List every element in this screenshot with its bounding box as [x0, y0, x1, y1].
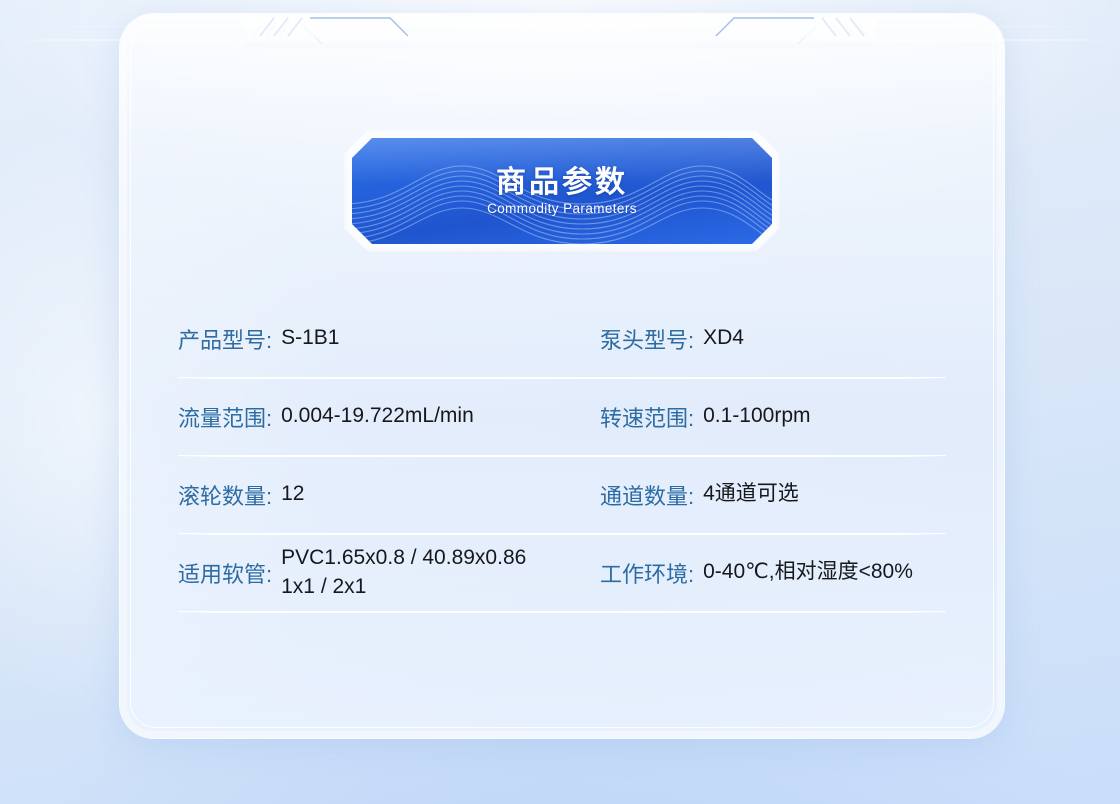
spec-cell-applicable-tubing: 适用软管: PVC1.65x0.8 / 40.89x0.86 1x1 / 2x1: [178, 544, 562, 601]
spec-cell-working-environment: 工作环境: 0-40℃,相对湿度<80%: [562, 557, 946, 589]
spec-cell-product-model: 产品型号: S-1B1: [178, 323, 562, 355]
spec-cell-channel-count: 通道数量: 4通道可选: [562, 479, 946, 511]
spec-label: 通道数量:: [600, 479, 694, 511]
spec-label: 泵头型号:: [600, 323, 694, 355]
spec-value: S-1B1: [281, 324, 339, 352]
spec-label: 产品型号:: [178, 323, 272, 355]
section-banner: 商品参数 Commodity Parameters: [352, 138, 772, 244]
card-corner-decoration-right: [654, 0, 884, 60]
card-corner-decoration-left: [240, 0, 470, 60]
spec-value: PVC1.65x0.8 / 40.89x0.86 1x1 / 2x1: [281, 544, 526, 601]
spec-value: 12: [281, 480, 304, 508]
spec-label: 流量范围:: [178, 401, 272, 433]
spec-value: 4通道可选: [703, 480, 799, 508]
table-row: 产品型号: S-1B1 泵头型号: XD4: [178, 300, 946, 378]
spec-value: XD4: [703, 324, 744, 352]
spec-cell-flow-range: 流量范围: 0.004-19.722mL/min: [178, 401, 562, 433]
spec-cell-roller-count: 滚轮数量: 12: [178, 479, 562, 511]
spec-value: 0.004-19.722mL/min: [281, 402, 474, 430]
spec-label: 适用软管:: [178, 557, 272, 589]
table-row: 流量范围: 0.004-19.722mL/min 转速范围: 0.1-100rp…: [178, 378, 946, 456]
spec-cell-pump-head-model: 泵头型号: XD4: [562, 323, 946, 355]
table-row: 滚轮数量: 12 通道数量: 4通道可选: [178, 456, 946, 534]
banner-title-chinese: 商品参数: [496, 166, 628, 201]
spec-value: 0-40℃,相对湿度<80%: [703, 558, 913, 586]
spec-value: 0.1-100rpm: [703, 402, 810, 430]
banner-body: 商品参数 Commodity Parameters: [352, 138, 772, 244]
table-row: 适用软管: PVC1.65x0.8 / 40.89x0.86 1x1 / 2x1…: [178, 534, 946, 612]
spec-cell-speed-range: 转速范围: 0.1-100rpm: [562, 401, 946, 433]
spec-label: 工作环境:: [600, 557, 694, 589]
spec-label: 转速范围:: [600, 401, 694, 433]
spec-table: 产品型号: S-1B1 泵头型号: XD4 流量范围: 0.004-19.722…: [178, 300, 946, 612]
banner-title-english: Commodity Parameters: [487, 201, 637, 216]
spec-label: 滚轮数量:: [178, 479, 272, 511]
